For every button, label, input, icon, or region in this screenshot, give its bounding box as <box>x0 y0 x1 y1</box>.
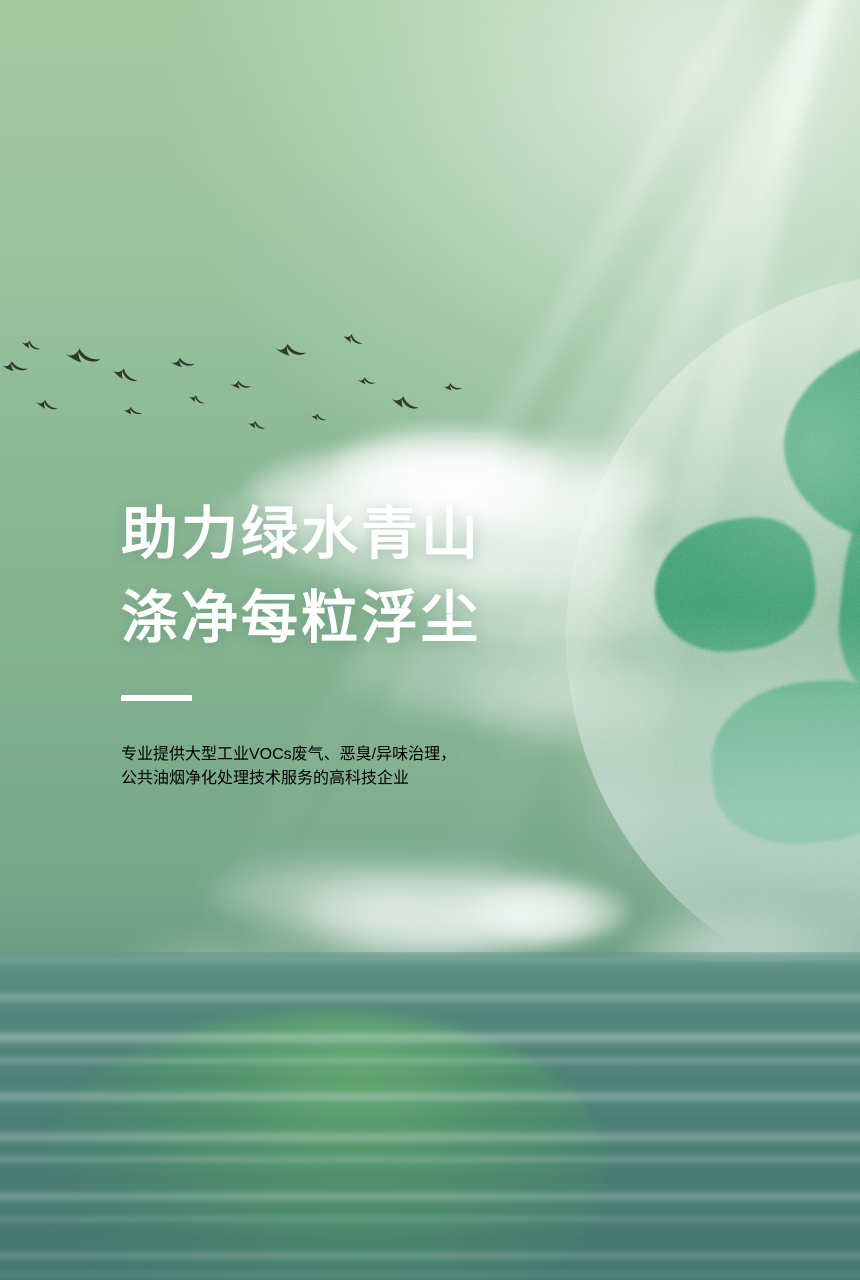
water-ripple-7 <box>0 1074 860 1083</box>
headline-line-1: 助力绿水青山 <box>121 492 681 576</box>
water-ripple-13 <box>0 1190 860 1204</box>
water-ripple-12 <box>0 1174 860 1183</box>
water-ripple-11 <box>0 1154 860 1165</box>
water-ripple-10 <box>0 1130 860 1145</box>
subcopy-line-2: 公共油烟净化处理技术服务的高科技企业 <box>121 764 681 788</box>
title-divider <box>121 695 192 701</box>
water-ripple-2 <box>0 974 860 981</box>
page-title: 助力绿水青山 涤净每粒浮尘 <box>121 492 681 660</box>
water-ripple-4 <box>0 1014 860 1022</box>
water-ripple-14 <box>0 1214 860 1224</box>
water-ripple-17 <box>0 1270 860 1279</box>
water-ripple-16 <box>0 1250 860 1262</box>
water-ripples <box>0 952 860 1280</box>
water-ripple-8 <box>0 1090 860 1104</box>
water-ripple-5 <box>0 1030 860 1046</box>
water-ripple-9 <box>0 1116 860 1124</box>
water-ripple-6 <box>0 1056 860 1066</box>
headline-line-2: 涤净每粒浮尘 <box>121 576 681 660</box>
water-ripple-15 <box>0 1234 860 1242</box>
subcopy-line-1: 专业提供大型工业VOCs废气、恶臭/异味治理， <box>121 740 681 764</box>
water-ripple-3 <box>0 992 860 1004</box>
water-ripple-1 <box>0 956 860 965</box>
water-surface <box>0 952 860 1280</box>
hero-copy: 助力绿水青山 涤净每粒浮尘 专业提供大型工业VOCs废气、恶臭/异味治理， 公共… <box>121 492 681 804</box>
hero-banner: 助力绿水青山 涤净每粒浮尘 专业提供大型工业VOCs废气、恶臭/异味治理， 公共… <box>0 0 860 1280</box>
